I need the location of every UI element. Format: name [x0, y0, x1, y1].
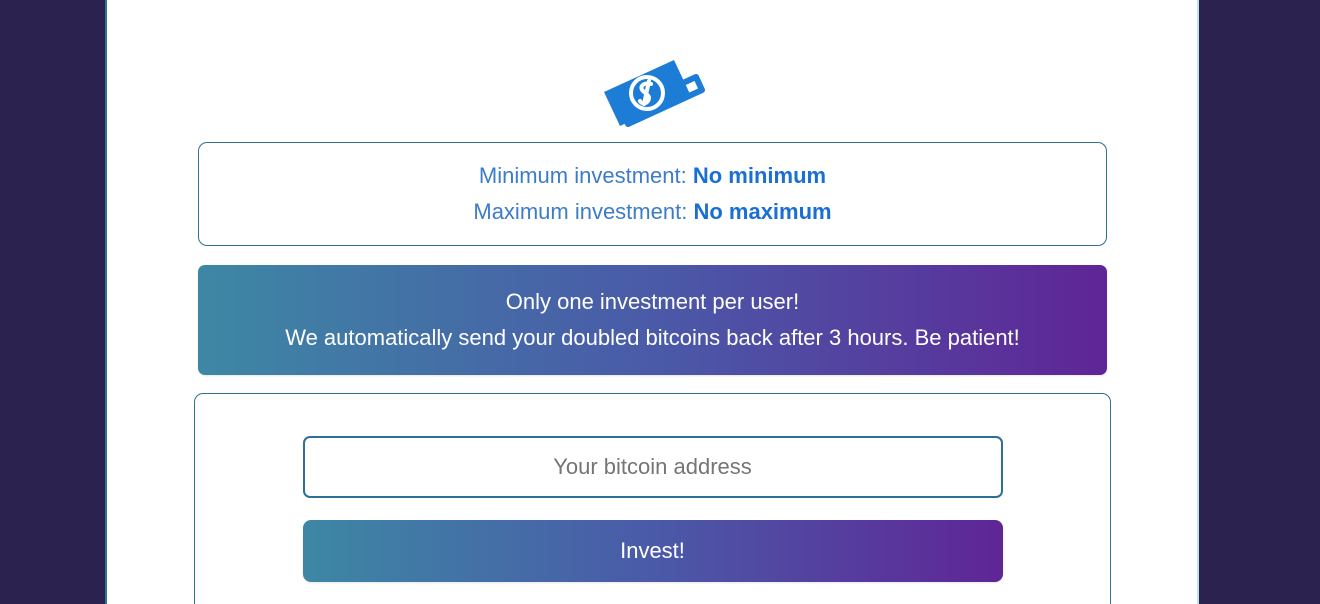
investment-notice-banner: Only one investment per user! We automat…	[198, 265, 1107, 375]
minimum-investment-value: No minimum	[693, 163, 826, 188]
investment-limits-card: Minimum investment: No minimum Maximum i…	[198, 142, 1107, 246]
bitcoin-address-input[interactable]	[303, 436, 1003, 498]
invest-button[interactable]: Invest!	[303, 520, 1003, 582]
notice-line-one: Only one investment per user!	[506, 284, 799, 320]
money-banknote-icon	[598, 54, 706, 130]
notice-line-two: We automatically send your doubled bitco…	[285, 320, 1020, 356]
page-content: GUARANTEED! Minimum investm	[107, 0, 1197, 604]
page-title: GUARANTEED!	[107, 0, 1197, 6]
maximum-investment-label: Maximum investment:	[473, 199, 687, 224]
maximum-investment-value: No maximum	[693, 199, 831, 224]
investment-form-card: Invest!	[194, 393, 1111, 604]
money-icon-container	[107, 54, 1197, 130]
minimum-investment-label: Minimum investment:	[479, 163, 687, 188]
minimum-investment-line: Minimum investment: No minimum	[479, 158, 826, 194]
page-container: GUARANTEED! Minimum investm	[105, 0, 1199, 604]
maximum-investment-line: Maximum investment: No maximum	[473, 194, 831, 230]
